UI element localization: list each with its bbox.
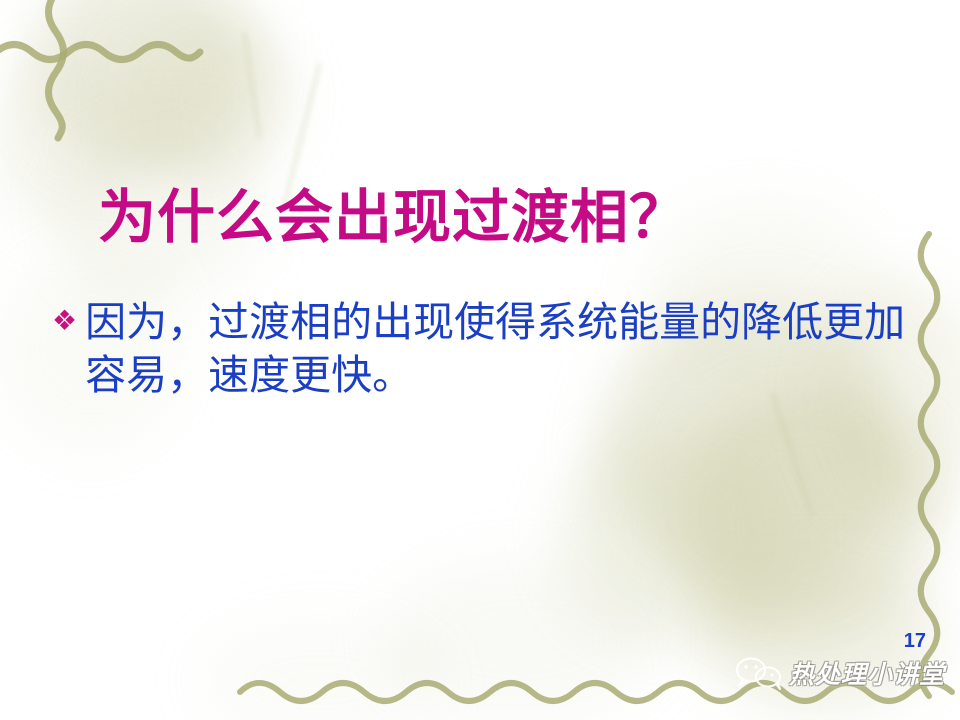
wechat-watermark: 热处理小讲堂 xyxy=(735,655,945,691)
floral-wash xyxy=(30,0,260,170)
wavy-cross-horizontal-icon xyxy=(0,30,204,70)
presentation-slide: 为什么会出现过渡相？ ❖ 因为，过渡相的出现使得系统能量的降低更加容易，速度更快… xyxy=(0,0,960,720)
floral-wash xyxy=(560,430,790,640)
slide-title: 为什么会出现过渡相？ xyxy=(98,187,688,250)
bullet-list: ❖ 因为，过渡相的出现使得系统能量的降低更加容易，速度更快。 xyxy=(52,296,917,403)
wechat-account-name: 热处理小讲堂 xyxy=(789,655,945,691)
floral-wash xyxy=(120,20,290,180)
floral-wash xyxy=(200,620,440,720)
floral-stem xyxy=(770,392,815,517)
bullet-item-text: 因为，过渡相的出现使得系统能量的降低更加容易，速度更快。 xyxy=(85,296,917,403)
wavy-cross-vertical-icon xyxy=(36,0,76,140)
diamond-bullet-icon: ❖ xyxy=(52,308,77,336)
floral-wash xyxy=(380,560,660,720)
floral-stem xyxy=(242,30,261,139)
floral-wash xyxy=(680,390,940,640)
wechat-icon xyxy=(735,656,783,690)
page-number: 17 xyxy=(904,630,926,653)
